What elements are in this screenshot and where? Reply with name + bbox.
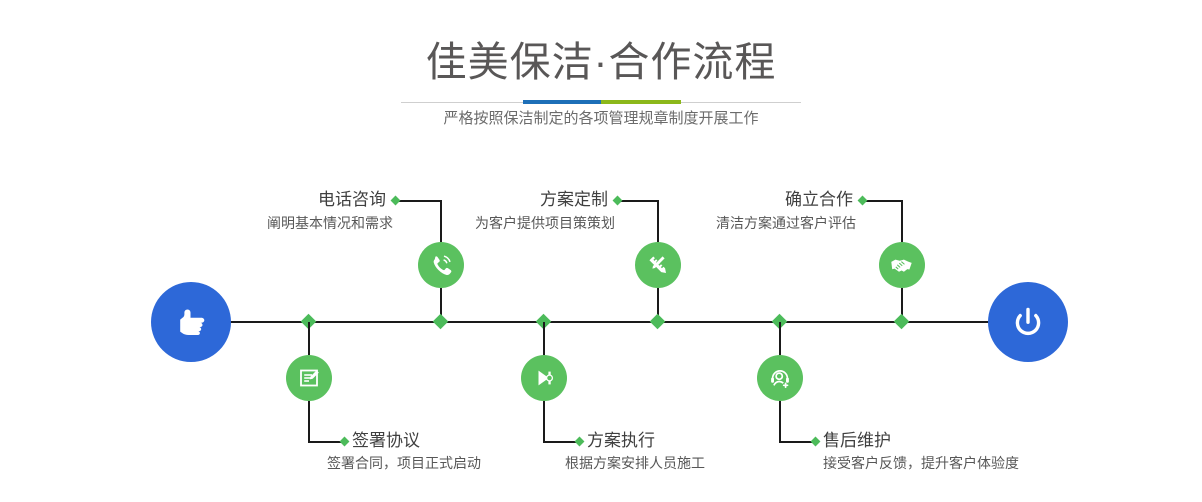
divider-blue-segment (523, 100, 601, 104)
bottom-step-1-desc: 签署合同，项目正式启动 (327, 453, 557, 473)
handshake-icon (888, 251, 916, 279)
axis-marker-1 (433, 314, 449, 330)
node-icon-pencil-design[interactable] (635, 242, 681, 288)
top-step-1-title: 电话咨询 (198, 189, 386, 211)
end-endpoint[interactable] (988, 282, 1068, 362)
pointing-hand-icon (169, 300, 213, 344)
node-icon-play-forward[interactable] (521, 355, 567, 401)
top-step-3-desc: 清洁方案通过客户评估 (638, 213, 856, 233)
top-step-2-desc: 为客户提供项目策策划 (395, 213, 615, 233)
header: 佳美保洁·合作流程 严格按照保洁制定的各项管理规章制度开展工作 (0, 0, 1202, 150)
customer-support-add-icon (767, 365, 793, 391)
connector-up-4 (308, 322, 310, 355)
divider-green-segment (601, 100, 681, 104)
top-step-1-desc: 阐明基本情况和需求 (178, 213, 393, 233)
connector-h-2 (620, 200, 659, 202)
axis-marker-3 (894, 314, 910, 330)
top-step-2-title: 方案定制 (420, 189, 608, 211)
connector-up-6 (779, 322, 781, 355)
label-marker-5 (575, 437, 585, 447)
connector-h-3 (865, 200, 903, 202)
play-forward-icon (531, 365, 557, 391)
label-marker-6 (811, 437, 821, 447)
start-endpoint[interactable] (151, 282, 231, 362)
connector-down-4 (308, 401, 310, 442)
label-marker-4 (340, 437, 350, 447)
bottom-step-3-title: 售后维护 (823, 430, 1043, 452)
bottom-step-1-title: 签署协议 (352, 430, 552, 452)
node-icon-phone-call[interactable] (418, 242, 464, 288)
label-marker-1 (391, 196, 401, 206)
pencil-design-icon (644, 251, 672, 279)
bottom-step-2-title: 方案执行 (587, 430, 787, 452)
axis-marker-2 (650, 314, 666, 330)
node-icon-handshake[interactable] (879, 242, 925, 288)
bottom-step-3-desc: 接受客户反馈，提升客户体验度 (823, 453, 1083, 473)
phone-call-icon (427, 251, 455, 279)
title-divider (401, 100, 801, 104)
connector-up-5 (543, 322, 545, 355)
connector-down-6 (779, 401, 781, 442)
bottom-step-2-desc: 根据方案安排人员施工 (565, 453, 795, 473)
connector-down-5 (543, 401, 545, 442)
document-sign-icon (296, 365, 322, 391)
power-icon (1006, 300, 1050, 344)
node-icon-document-sign[interactable] (286, 355, 332, 401)
page-title: 佳美保洁·合作流程 (0, 38, 1202, 86)
top-step-3-title: 确立合作 (665, 189, 853, 211)
label-marker-3 (858, 196, 868, 206)
connector-up-3 (901, 201, 903, 242)
label-marker-2 (613, 196, 623, 206)
page-subtitle: 严格按照保洁制定的各项管理规章制度开展工作 (0, 107, 1202, 131)
node-icon-customer-support[interactable] (757, 355, 803, 401)
flow-diagram: 佳美保洁·合作流程 严格按照保洁制定的各项管理规章制度开展工作 (0, 0, 1202, 502)
